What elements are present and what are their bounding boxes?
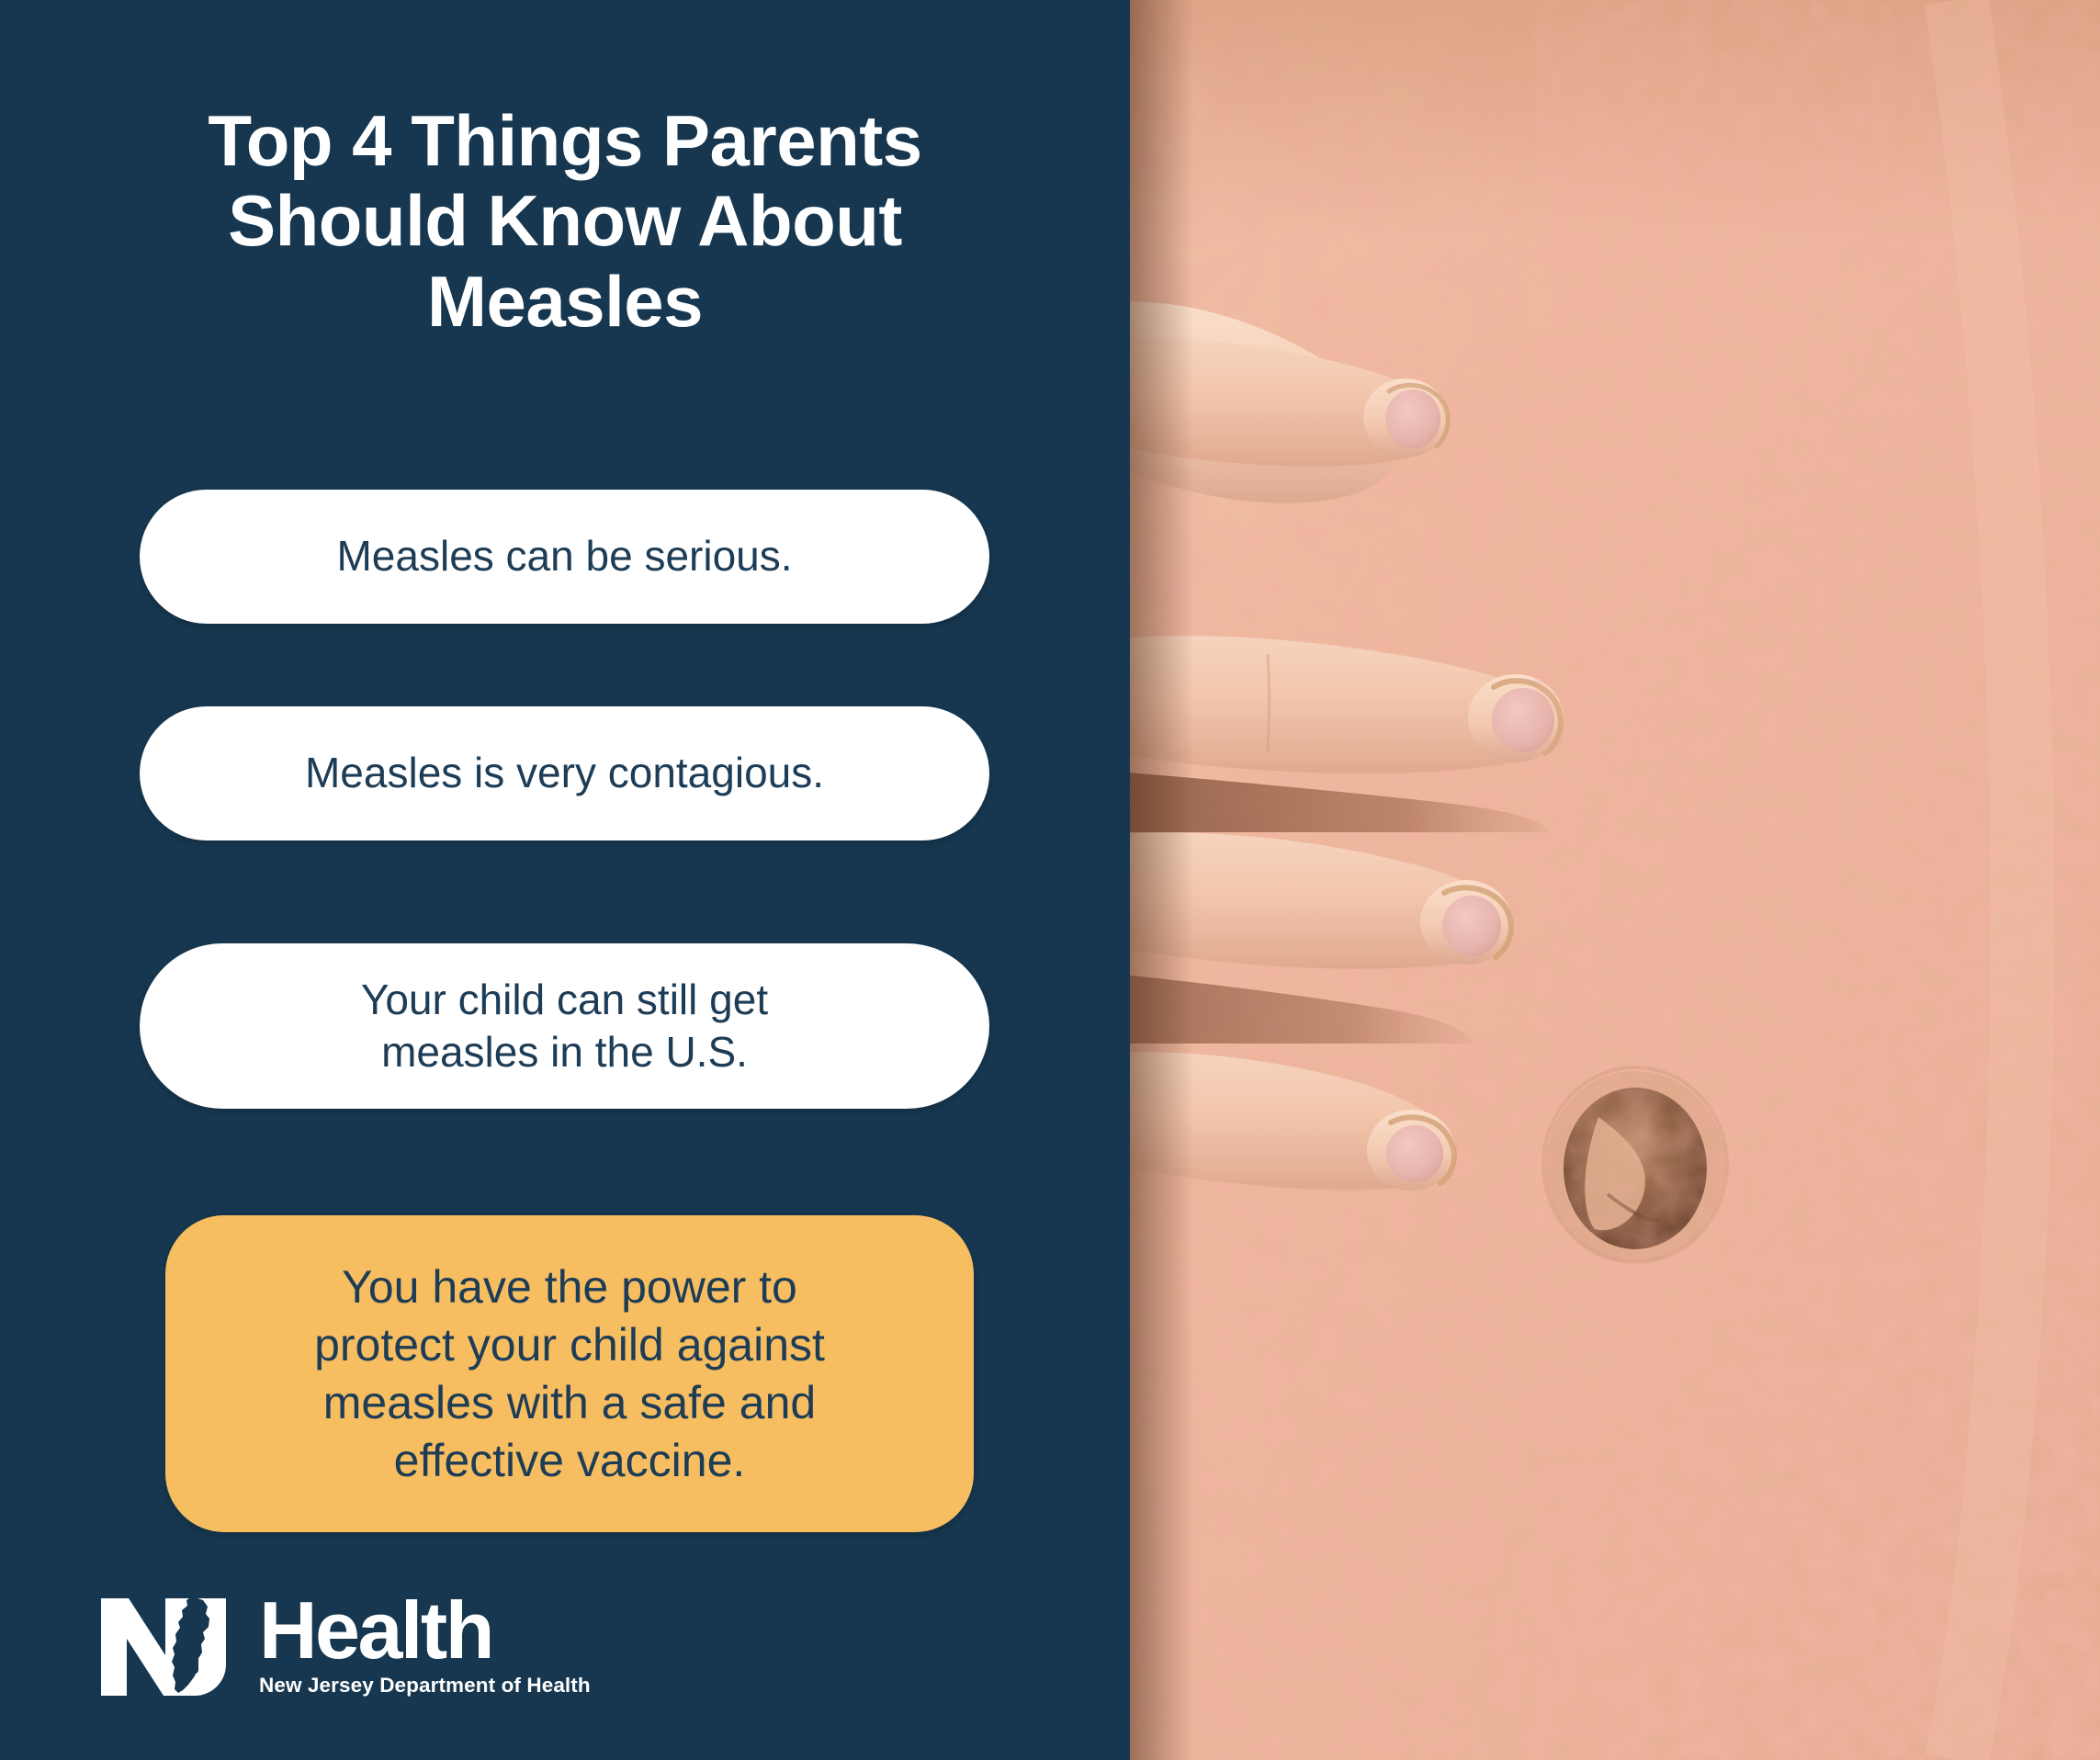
fact-card-measles-in-us: Your child can still get measles in the … <box>140 943 989 1109</box>
page-title-line-2: Should Know About <box>55 181 1075 261</box>
fact-card-text: Measles is very contagious. <box>305 747 824 799</box>
nj-health-wordmark: Health New Jersey Department of Health <box>259 1591 591 1698</box>
fact-card-list: Measles can be serious. Measles is very … <box>140 490 989 1109</box>
logo-subtitle-text: New Jersey Department of Health <box>259 1674 591 1698</box>
fact-card-line: Measles can be serious. <box>336 530 792 582</box>
fact-card-line: effective vaccine. <box>314 1432 825 1490</box>
fact-card-measles-contagious: Measles is very contagious. <box>140 706 989 841</box>
fact-card-line: Your child can still get <box>361 974 768 1026</box>
fact-card-text: You have the power to protect your child… <box>314 1258 825 1490</box>
fact-card-line: You have the power to <box>314 1258 825 1316</box>
fact-card-line: measles with a safe and <box>314 1374 825 1432</box>
fact-card-vaccine-power: You have the power to protect your child… <box>165 1215 974 1532</box>
left-content-panel: Top 4 Things Parents Should Know About M… <box>0 0 1130 1760</box>
measles-rash-photo <box>1130 0 2100 1760</box>
nj-state-outline-icon <box>99 1591 263 1703</box>
fact-card-text: Your child can still get measles in the … <box>361 974 768 1078</box>
fact-card-line: measles in the U.S. <box>361 1026 768 1078</box>
page-title-line-3: Measles <box>55 262 1075 342</box>
fact-card-line: Measles is very contagious. <box>305 747 824 799</box>
nj-health-logo: Health New Jersey Department of Health <box>99 1591 591 1703</box>
logo-wordmark-text: Health <box>259 1591 591 1670</box>
fact-card-line: protect your child against <box>314 1316 825 1374</box>
fact-card-measles-serious: Measles can be serious. <box>140 490 989 624</box>
fact-card-text: Measles can be serious. <box>336 530 792 582</box>
page-title: Top 4 Things Parents Should Know About M… <box>55 101 1075 342</box>
measles-infographic-poster: Top 4 Things Parents Should Know About M… <box>0 0 2100 1760</box>
page-title-line-1: Top 4 Things Parents <box>55 101 1075 181</box>
